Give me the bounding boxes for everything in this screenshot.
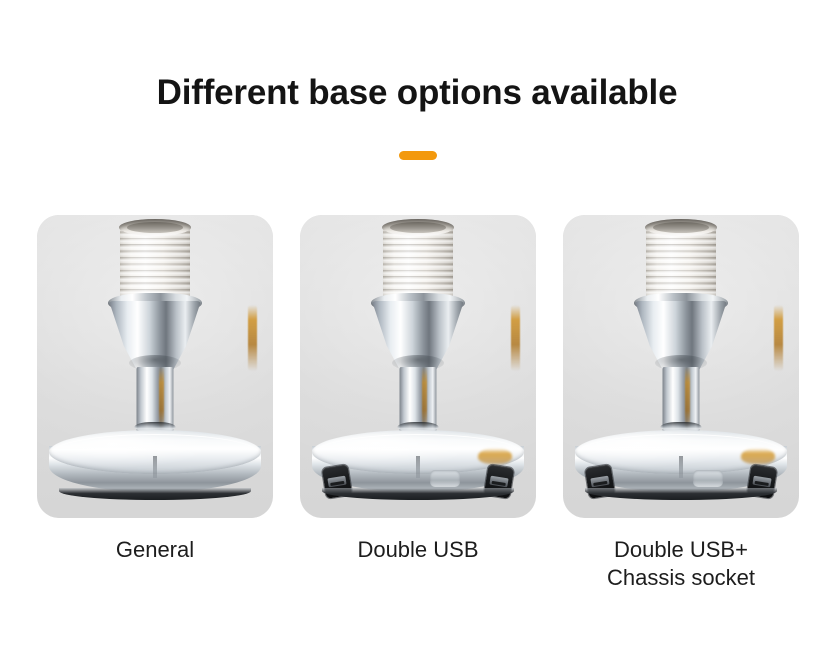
usb-port-slot xyxy=(327,476,346,488)
chrome-base-disc xyxy=(312,430,524,498)
threaded-socket-sleeve xyxy=(646,225,716,303)
socket-opening xyxy=(653,222,709,233)
lamp-base-image-double-usb xyxy=(300,215,536,518)
amber-reflection-stem xyxy=(159,367,164,429)
amber-reflection-cup xyxy=(248,305,257,371)
amber-reflection-stem xyxy=(422,367,427,429)
product-showcase-page: Different base options available xyxy=(0,0,834,653)
caption-line-2: Chassis socket xyxy=(563,564,799,592)
orange-divider xyxy=(399,151,437,160)
caption-line-1: Double USB xyxy=(357,537,478,562)
threaded-socket-sleeve xyxy=(383,225,453,303)
caption-line-1: Double USB+ xyxy=(614,537,748,562)
base-rubber-foot xyxy=(322,488,514,500)
product-caption-row: General Double USB Double USB+ Chassis s… xyxy=(37,536,799,592)
product-card-double-usb-chassis-socket[interactable] xyxy=(563,215,799,518)
amber-reflection-stem xyxy=(685,367,690,429)
lamp-base-image-general xyxy=(37,215,273,518)
caption-double-usb-chassis-socket: Double USB+ Chassis socket xyxy=(563,536,799,592)
chassis-socket-indent xyxy=(693,470,723,487)
base-seam xyxy=(416,456,420,478)
page-title: Different base options available xyxy=(0,72,834,114)
amber-reflection-cup xyxy=(511,305,520,371)
chassis-socket-indent xyxy=(430,470,460,487)
base-rubber-foot xyxy=(59,488,251,500)
usb-port-slot xyxy=(489,476,508,488)
socket-opening xyxy=(127,222,183,233)
caption-general: General xyxy=(37,536,273,592)
caption-line-1: General xyxy=(116,537,194,562)
amber-reflection-base xyxy=(478,448,512,464)
usb-port-slot xyxy=(752,476,771,488)
usb-port-slot xyxy=(590,476,609,488)
caption-double-usb: Double USB xyxy=(300,536,536,592)
chrome-base-disc xyxy=(575,430,787,498)
base-seam xyxy=(679,456,683,478)
amber-reflection-cup xyxy=(774,305,783,371)
threaded-socket-sleeve xyxy=(120,225,190,303)
product-card-general[interactable] xyxy=(37,215,273,518)
socket-opening xyxy=(390,222,446,233)
base-rubber-foot xyxy=(585,488,777,500)
chrome-base-disc xyxy=(49,430,261,498)
amber-reflection-base xyxy=(741,448,775,464)
product-card-double-usb[interactable] xyxy=(300,215,536,518)
base-seam xyxy=(153,456,157,478)
product-card-row xyxy=(37,215,799,520)
lamp-base-image-double-usb-chassis-socket xyxy=(563,215,799,518)
